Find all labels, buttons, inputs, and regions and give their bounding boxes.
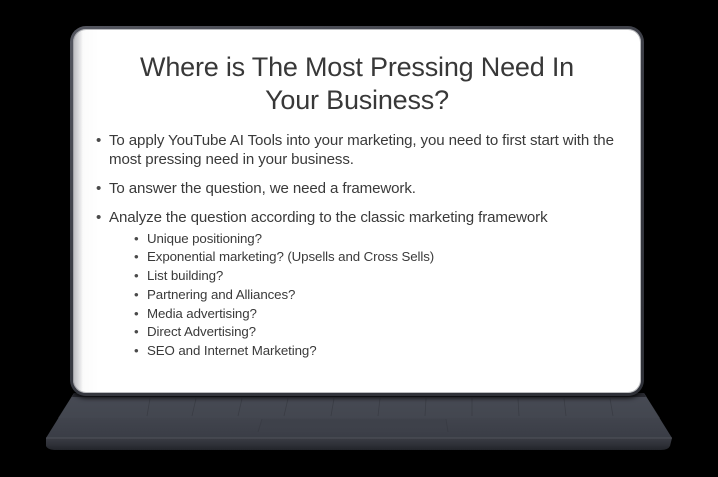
slide-bullet-list: • To apply YouTube AI Tools into your ma… <box>73 118 641 361</box>
laptop-front-lip <box>46 438 672 450</box>
bullet-level2: • Exponential marketing? (Upsells and Cr… <box>109 248 621 267</box>
sub-bullet-marker-icon: • <box>134 305 139 324</box>
slide-screen[interactable]: Where is The Most Pressing Need In Your … <box>73 29 641 393</box>
bullet-level2: • Partnering and Alliances? <box>109 286 621 305</box>
bullet-level2-text: SEO and Internet Marketing? <box>147 343 317 358</box>
bullet-marker-icon: • <box>96 208 101 227</box>
bullet-level1: • Analyze the question according to the … <box>95 208 621 360</box>
laptop-base <box>0 388 718 460</box>
slide-presentation-scene: Where is The Most Pressing Need In Your … <box>0 0 718 477</box>
bullet-level2-text: Exponential marketing? (Upsells and Cros… <box>147 249 434 264</box>
sub-bullet-marker-icon: • <box>134 323 139 342</box>
laptop-lid: Where is The Most Pressing Need In Your … <box>70 26 644 396</box>
sub-bullet-marker-icon: • <box>134 230 139 249</box>
bullet-level2: • SEO and Internet Marketing? <box>109 342 621 361</box>
laptop-trackpad <box>258 419 448 432</box>
sub-bullet-marker-icon: • <box>134 286 139 305</box>
bullet-level2-text: List building? <box>147 268 223 283</box>
bullet-level2-text: Partnering and Alliances? <box>147 287 295 302</box>
bullet-sublist: • Unique positioning? • Exponential mark… <box>109 230 621 361</box>
bullet-level1: • To apply YouTube AI Tools into your ma… <box>95 131 621 169</box>
bullet-level1-text: Analyze the question according to the cl… <box>109 209 548 226</box>
bullet-level2: • List building? <box>109 267 621 286</box>
bullet-level2: • Unique positioning? <box>109 230 621 249</box>
bullet-level1-text: To answer the question, we need a framew… <box>109 180 416 197</box>
bullet-level1-text: To apply YouTube AI Tools into your mark… <box>109 132 614 168</box>
bullet-level2-text: Unique positioning? <box>147 231 262 246</box>
bullet-level2-text: Media advertising? <box>147 306 257 321</box>
slide-title: Where is The Most Pressing Need In Your … <box>73 29 641 118</box>
bullet-level2: • Media advertising? <box>109 305 621 324</box>
bullet-marker-icon: • <box>96 179 101 198</box>
bullet-marker-icon: • <box>96 131 101 150</box>
bullet-level1: • To answer the question, we need a fram… <box>95 179 621 198</box>
slide-content: Where is The Most Pressing Need In Your … <box>73 29 641 393</box>
sub-bullet-marker-icon: • <box>134 342 139 361</box>
sub-bullet-marker-icon: • <box>134 267 139 286</box>
bullet-level2: • Direct Advertising? <box>109 323 621 342</box>
bullet-level2-text: Direct Advertising? <box>147 324 256 339</box>
sub-bullet-marker-icon: • <box>134 248 139 267</box>
